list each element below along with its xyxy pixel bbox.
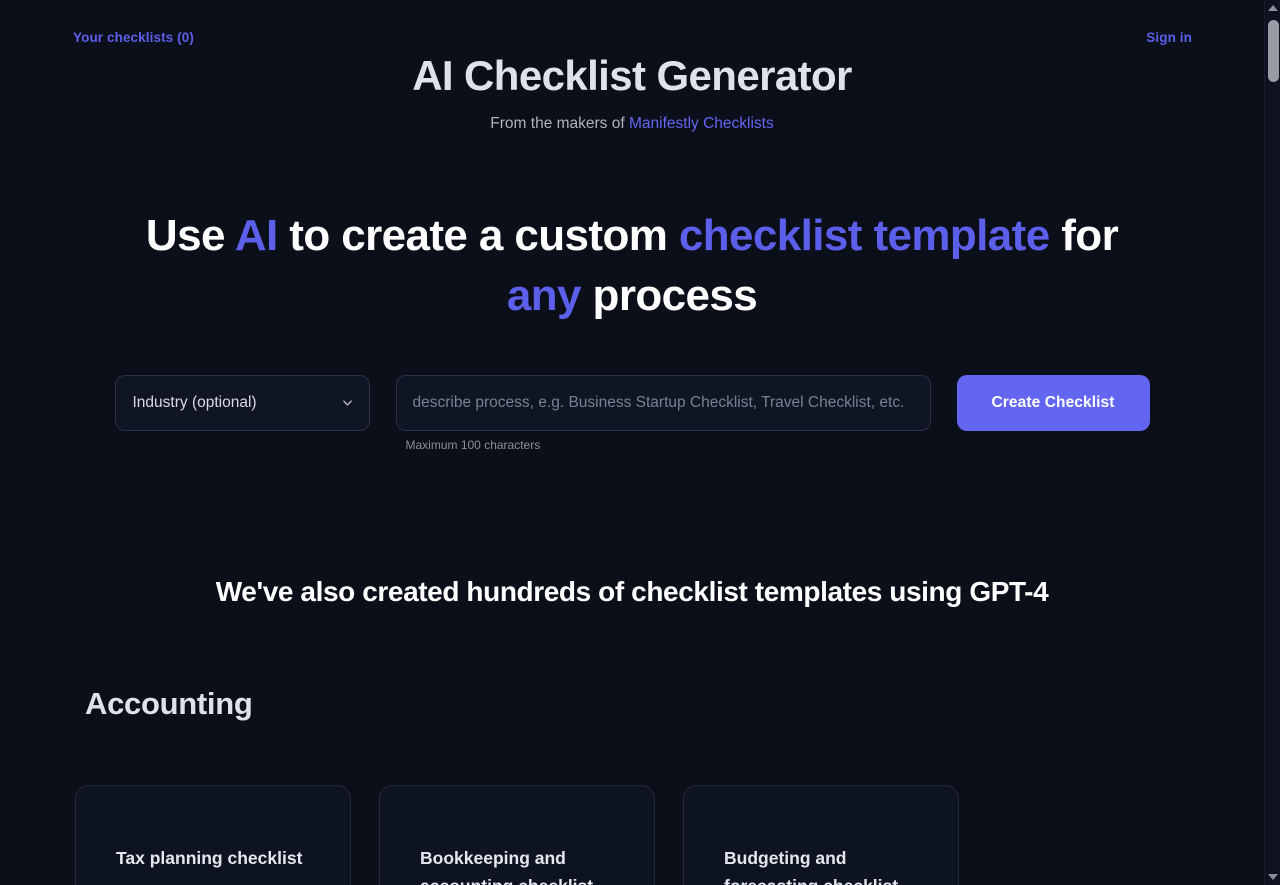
hero-headline: Use AI to create a custom checklist temp… <box>112 206 1152 326</box>
headline-accent-ai: AI <box>235 211 278 260</box>
process-description-input[interactable] <box>396 375 931 431</box>
page-viewport: Your checklists (0) Sign in AI Checklist… <box>0 0 1264 885</box>
generator-form: Industry (optional) Maximum 100 characte… <box>0 375 1264 452</box>
scrollbar-thumb[interactable] <box>1268 20 1279 82</box>
headline-part-4: process <box>581 271 757 320</box>
your-checklists-link[interactable]: Your checklists (0) <box>73 30 194 45</box>
brand-subtitle-prefix: From the makers of <box>490 115 629 132</box>
industry-select[interactable]: Industry (optional) <box>115 375 370 431</box>
template-card-grid: Tax planning checklist Bookkeeping and a… <box>0 785 1264 885</box>
templates-section-heading: We've also created hundreds of checklist… <box>0 576 1264 608</box>
template-card-title: Bookkeeping and accounting checklist <box>420 844 626 885</box>
industry-select-wrapper: Industry (optional) <box>115 375 370 431</box>
headline-accent-any: any <box>507 271 581 320</box>
template-card[interactable]: Bookkeeping and accounting checklist <box>379 785 655 885</box>
category-section-accounting: Accounting <box>0 686 1264 722</box>
category-title: Accounting <box>85 686 1264 722</box>
template-card[interactable]: Budgeting and forecasting checklist <box>683 785 959 885</box>
template-card[interactable]: Tax planning checklist <box>75 785 351 885</box>
scroll-up-arrow-icon[interactable] <box>1265 0 1280 16</box>
headline-accent-checklist-template: checklist template <box>679 211 1050 260</box>
scroll-down-arrow-icon[interactable] <box>1265 869 1280 885</box>
headline-part-1: Use <box>146 211 235 260</box>
headline-part-2: to create a custom <box>278 211 679 260</box>
template-card-title: Tax planning checklist <box>116 844 322 872</box>
brand-subtitle: From the makers of Manifestly Checklists <box>0 115 1264 133</box>
max-characters-help-text: Maximum 100 characters <box>406 438 931 452</box>
template-card-title: Budgeting and forecasting checklist <box>724 844 930 885</box>
description-field-wrapper: Maximum 100 characters <box>396 375 931 452</box>
top-bar: Your checklists (0) Sign in <box>0 0 1264 76</box>
sign-in-link[interactable]: Sign in <box>1146 30 1192 45</box>
headline-part-3: for <box>1050 211 1118 260</box>
manifestly-checklists-link[interactable]: Manifestly Checklists <box>629 115 774 132</box>
vertical-scrollbar[interactable] <box>1264 0 1280 885</box>
create-checklist-button[interactable]: Create Checklist <box>957 375 1150 431</box>
